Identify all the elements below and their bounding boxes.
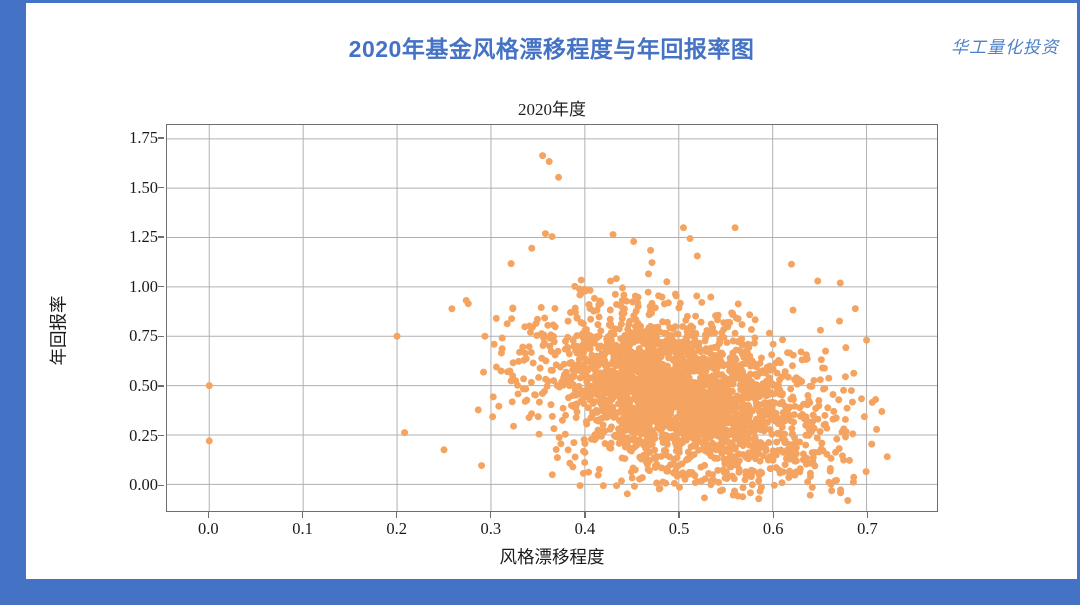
y-axis-ticks: 0.000.250.500.751.001.251.501.75	[96, 124, 158, 512]
x-axis-label: 风格漂移程度	[166, 544, 938, 569]
y-tick-label: 0.50	[98, 376, 158, 396]
scatter-points	[167, 125, 937, 511]
x-tick-label: 0.4	[555, 519, 615, 539]
x-tick-label: 0.7	[837, 519, 897, 539]
y-tick-mark	[158, 187, 164, 188]
x-tick-mark	[678, 512, 679, 518]
slide-canvas: 2020年基金风格漂移程度与年回报率图 华工量化投资 2020年度 0.000.…	[26, 3, 1077, 579]
y-tick-mark	[158, 236, 164, 237]
x-tick-label: 0.5	[649, 519, 709, 539]
y-axis-label: 年回报率	[46, 251, 71, 411]
x-tick-mark	[584, 512, 585, 518]
x-tick-label: 0.1	[273, 519, 333, 539]
y-tick-label: 1.00	[98, 277, 158, 297]
y-tick-label: 0.00	[98, 475, 158, 495]
y-tick-mark	[158, 336, 164, 337]
x-tick-label: 0.3	[461, 519, 521, 539]
y-tick-label: 0.75	[98, 326, 158, 346]
y-tick-label: 0.25	[98, 426, 158, 446]
y-tick-mark	[158, 435, 164, 436]
y-tick-mark	[158, 485, 164, 486]
x-tick-mark	[396, 512, 397, 518]
x-tick-mark	[773, 512, 774, 518]
x-tick-mark	[302, 512, 303, 518]
plot-area	[166, 124, 938, 512]
x-tick-label: 0.2	[367, 519, 427, 539]
y-tick-mark	[158, 137, 164, 138]
scatter-figure: 2020年度 0.000.250.500.751.001.251.501.75 …	[26, 63, 1077, 563]
slide-frame: 2020年基金风格漂移程度与年回报率图 华工量化投资 2020年度 0.000.…	[0, 0, 1080, 605]
y-tick-label: 1.25	[98, 227, 158, 247]
y-tick-label: 1.75	[98, 128, 158, 148]
x-tick-label: 0.0	[178, 519, 238, 539]
chart-title: 2020年度	[166, 95, 938, 120]
watermark-logo: 华工量化投资	[951, 33, 1059, 58]
x-tick-label: 0.6	[743, 519, 803, 539]
x-tick-mark	[490, 512, 491, 518]
x-tick-mark	[867, 512, 868, 518]
y-tick-label: 1.50	[98, 178, 158, 198]
page-title: 2020年基金风格漂移程度与年回报率图	[26, 30, 1077, 64]
y-tick-mark	[158, 385, 164, 386]
y-tick-mark	[158, 286, 164, 287]
x-tick-mark	[208, 512, 209, 518]
x-axis-ticks: 0.00.10.20.30.40.50.60.7	[166, 519, 938, 543]
